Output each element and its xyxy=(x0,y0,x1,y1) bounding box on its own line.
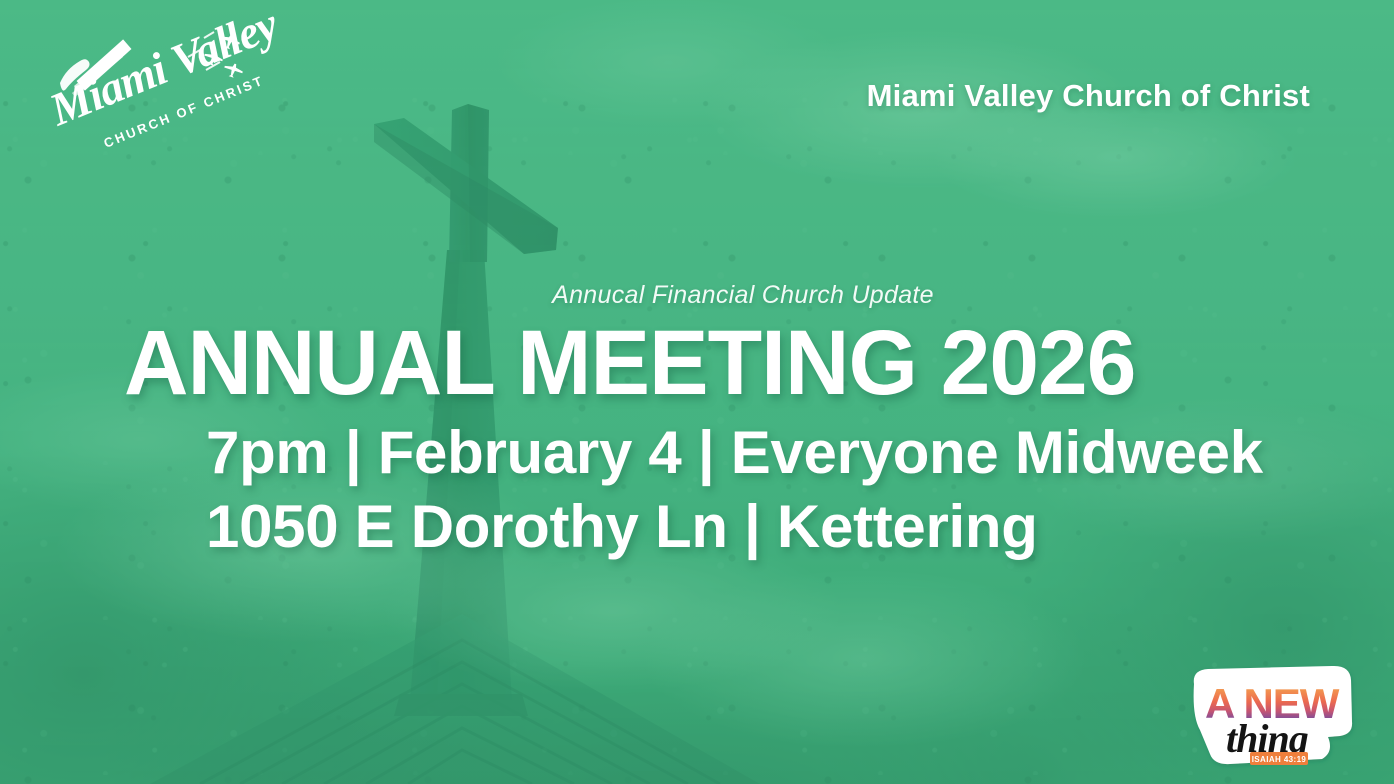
slide-canvas: Miami Valley CHURCH OF CHRIST xyxy=(0,0,1394,784)
event-address-line: 1050 E Dorothy Ln | Kettering xyxy=(206,492,1038,561)
page-title: ANNUAL MEETING 2026 xyxy=(124,318,1135,409)
church-logo[interactable]: Miami Valley CHURCH OF CHRIST xyxy=(28,8,278,168)
badge-reference-text: ISAIAH 43:19 xyxy=(1252,755,1307,764)
organization-name: Miami Valley Church of Christ xyxy=(867,78,1310,114)
event-details-line: 7pm | February 4 | Everyone Midweek xyxy=(206,418,1263,487)
a-new-thing-badge[interactable]: A NEW thing ISAIAH 43:19 xyxy=(1178,660,1364,772)
eyebrow-text: Annucal Financial Church Update xyxy=(0,281,1394,310)
